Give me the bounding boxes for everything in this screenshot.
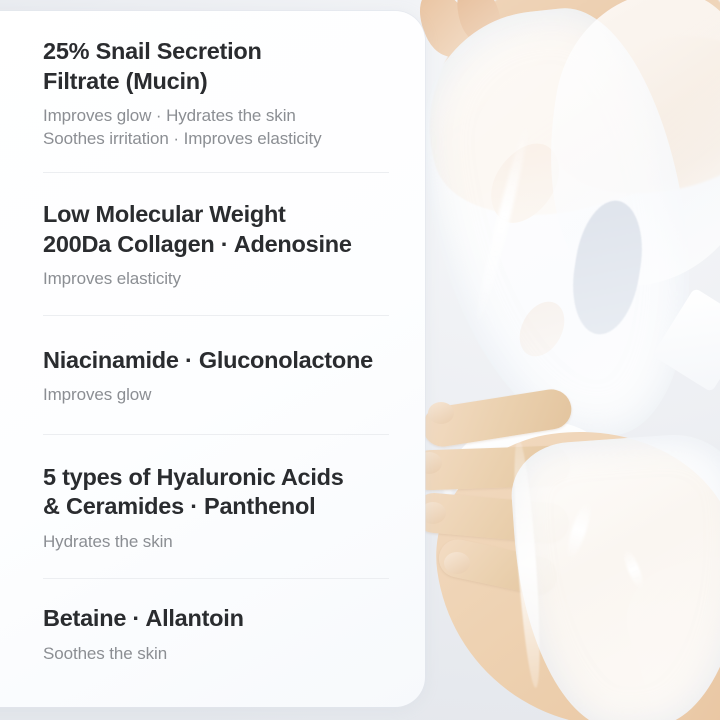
- ingredient-benefits: Improves glow · Hydrates the skin Soothe…: [43, 105, 389, 150]
- ingredient-title: Betaine · Allantoin: [43, 604, 389, 634]
- ingredient-block: 25% Snail Secretion Filtrate (Mucin) Imp…: [43, 11, 389, 173]
- ingredient-title: 25% Snail Secretion Filtrate (Mucin): [43, 37, 389, 96]
- ingredient-block: Niacinamide · Gluconolactone Improves gl…: [43, 316, 389, 435]
- ingredient-title: Low Molecular Weight 200Da Collagen · Ad…: [43, 200, 389, 259]
- ingredient-block: 5 types of Hyaluronic Acids & Ceramides …: [43, 435, 389, 580]
- ingredient-benefits: Improves glow: [43, 384, 389, 406]
- ingredient-card: 25% Snail Secretion Filtrate (Mucin) Imp…: [0, 11, 425, 707]
- ingredient-benefits: Hydrates the skin: [43, 531, 389, 553]
- product-photo: [400, 0, 720, 720]
- ingredient-block: Low Molecular Weight 200Da Collagen · Ad…: [43, 173, 389, 316]
- ingredient-block: Betaine · Allantoin Soothes the skin: [43, 579, 389, 685]
- infographic-canvas: 25% Snail Secretion Filtrate (Mucin) Imp…: [0, 0, 720, 720]
- ingredient-benefits: Soothes the skin: [43, 643, 389, 665]
- ingredient-title: Niacinamide · Gluconolactone: [43, 346, 389, 376]
- lower-nail-index: [428, 402, 454, 424]
- ingredient-title: 5 types of Hyaluronic Acids & Ceramides …: [43, 463, 389, 522]
- lower-nail-pinky: [444, 552, 470, 574]
- ingredient-benefits: Improves elasticity: [43, 268, 389, 290]
